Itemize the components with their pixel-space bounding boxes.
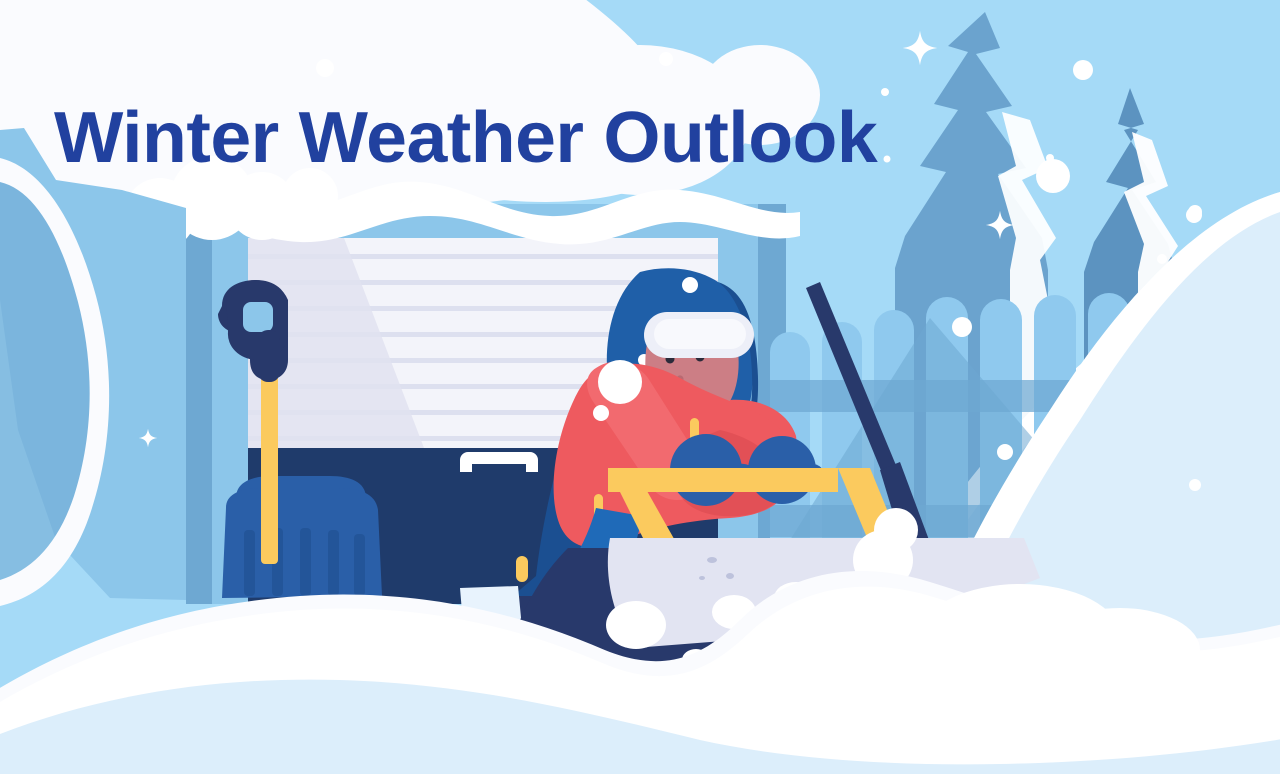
garage-frame-left-shade [186,204,212,604]
shovel-shaft [261,368,278,564]
winter-illustration-svg [0,0,1280,774]
winter-weather-outlook-banner: Winter Weather Outlook [0,0,1280,774]
jacket-snow-blob-large [598,360,642,404]
shovel-neck [258,330,280,382]
boot-buckle [516,556,528,582]
jacket-snow-blob-small [593,405,609,421]
push-bar-right [744,468,838,492]
shovel-d-grip-hole [243,302,273,332]
hood-snow-dot-1 [682,277,698,293]
headband-highlight [654,319,746,349]
